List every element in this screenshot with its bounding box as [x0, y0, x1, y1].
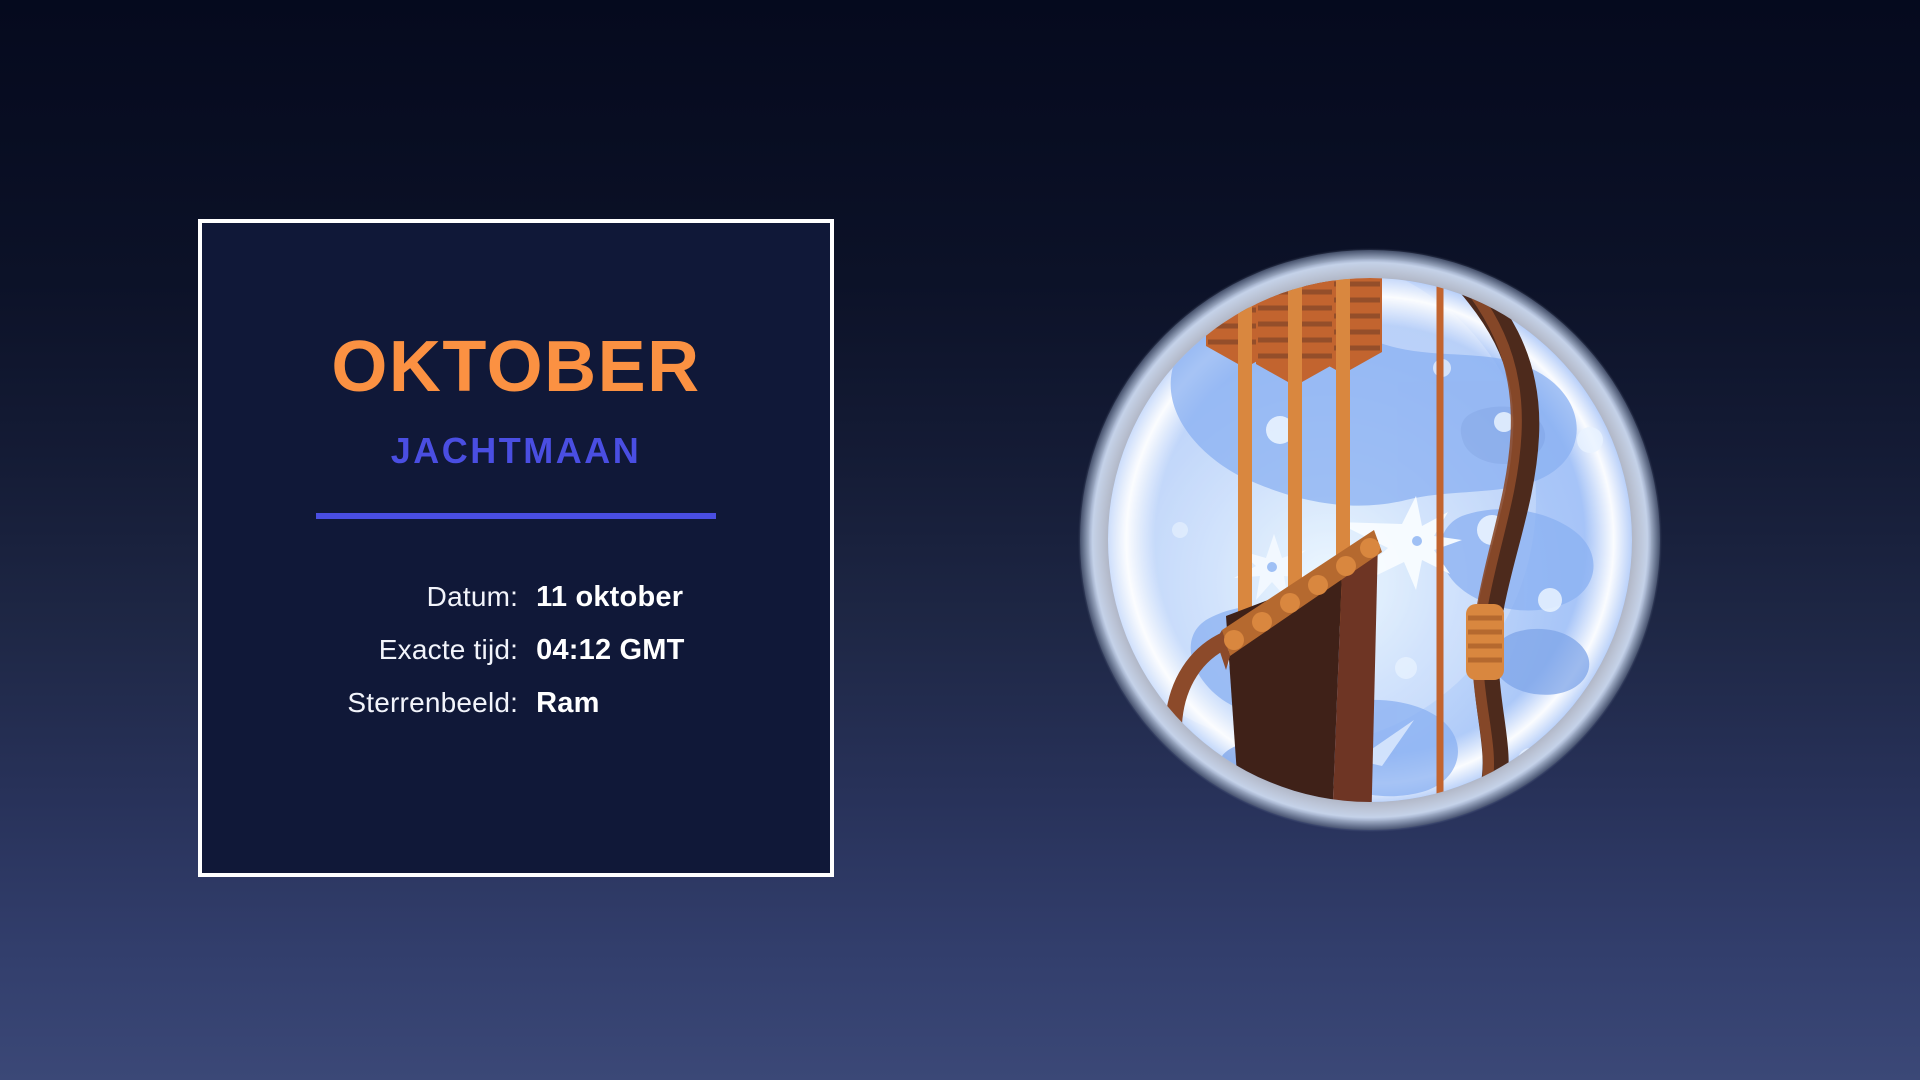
bow-grip: [1466, 604, 1504, 680]
quiver-bottom-studs: [1253, 842, 1371, 860]
detail-value-constellation: Ram: [536, 687, 684, 720]
detail-list: Datum: 11 oktober Exacte tijd: 04:12 GMT…: [347, 581, 684, 720]
poster-canvas: OKTOBER JACHTMAAN Datum: 11 oktober Exac…: [0, 0, 1920, 1080]
detail-label-exact-time: Exacte tijd:: [347, 634, 518, 666]
moon-info-card: OKTOBER JACHTMAAN Datum: 11 oktober Exac…: [198, 219, 834, 877]
page-title: OKTOBER: [331, 331, 700, 403]
detail-label-date: Datum:: [347, 581, 518, 613]
detail-value-exact-time: 04:12 GMT: [536, 634, 684, 667]
bow-nock-bottom: [1424, 838, 1456, 870]
detail-label-constellation: Sterrenbeeld:: [347, 687, 518, 719]
card-content: OKTOBER JACHTMAAN Datum: 11 oktober Exac…: [202, 223, 830, 873]
divider: [316, 513, 716, 519]
moon-name-subtitle: JACHTMAAN: [391, 433, 642, 469]
detail-value-date: 11 oktober: [536, 581, 684, 614]
moon-illustration: [1030, 200, 1710, 880]
